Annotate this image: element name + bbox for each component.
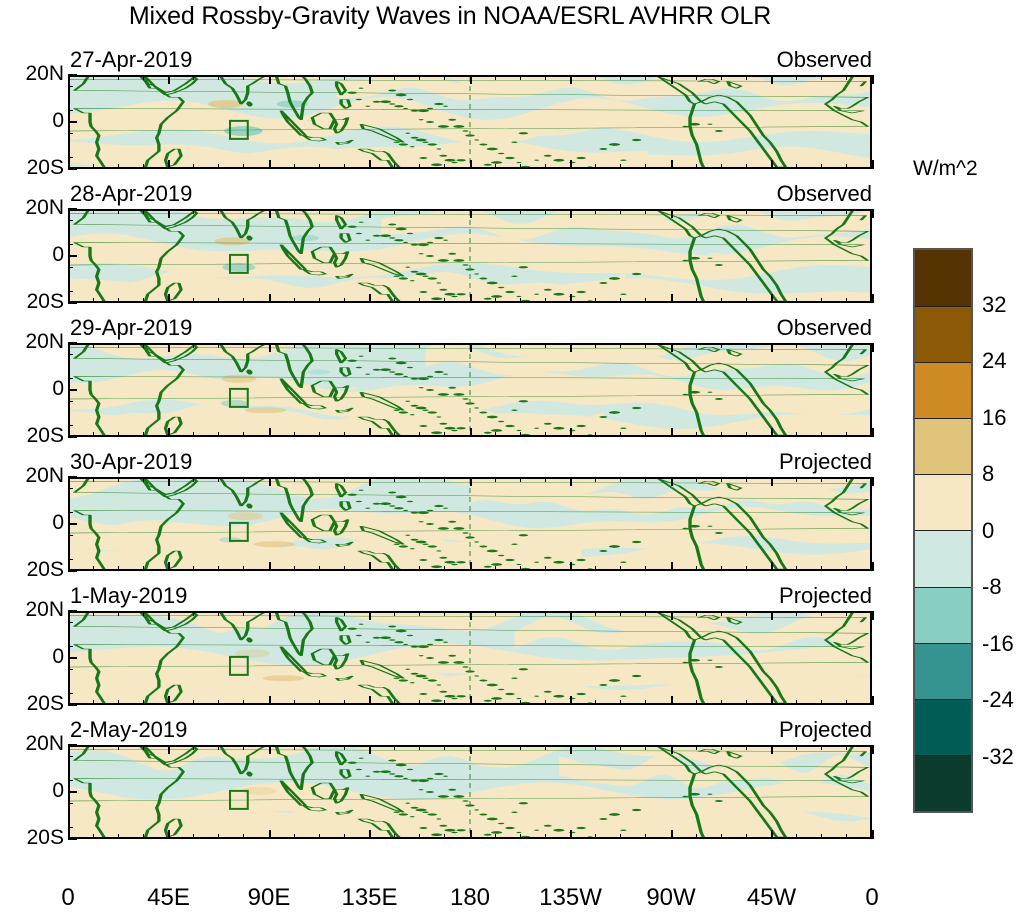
- x-axis-minor-tick: [344, 75, 345, 80]
- x-axis-tick: [671, 745, 673, 754]
- x-axis-tick: [470, 343, 472, 352]
- x-axis-tick: [168, 696, 170, 705]
- x-axis-minor-tick: [696, 745, 697, 750]
- x-axis-minor-tick: [796, 566, 797, 571]
- y-axis-minor-tick: [68, 86, 73, 87]
- colorbar-tick-label: -24: [982, 687, 1014, 713]
- x-axis-minor-tick: [620, 75, 621, 80]
- x-axis-minor-tick: [846, 164, 847, 169]
- y-axis-minor-tick: [68, 646, 73, 647]
- x-axis-minor-tick: [344, 298, 345, 303]
- x-axis-tick: [570, 830, 572, 839]
- x-axis-minor-tick: [344, 566, 345, 571]
- x-axis-minor-tick: [645, 75, 646, 80]
- x-axis-minor-tick: [746, 298, 747, 303]
- x-axis-minor-tick: [193, 343, 194, 348]
- x-axis-minor-tick: [218, 477, 219, 482]
- x-axis-minor-tick: [218, 164, 219, 169]
- x-axis-minor-tick: [595, 700, 596, 705]
- x-axis-minor-tick: [846, 611, 847, 616]
- x-axis-tick: [68, 611, 70, 620]
- x-axis-minor-tick: [93, 566, 94, 571]
- y-axis-tick-label: 20N: [0, 598, 64, 622]
- x-axis-minor-tick: [846, 700, 847, 705]
- x-axis-tick-label: 135W: [539, 884, 602, 912]
- x-axis-minor-tick: [193, 432, 194, 437]
- colorbar-band: [915, 362, 971, 418]
- x-axis-minor-tick: [696, 164, 697, 169]
- x-axis-minor-tick: [620, 700, 621, 705]
- x-axis-minor-tick: [821, 700, 822, 705]
- colorbar-tick-label: 16: [982, 405, 1006, 431]
- x-axis-tick: [470, 611, 472, 620]
- y-axis-minor-tick: [68, 267, 73, 268]
- x-axis-minor-tick: [620, 611, 621, 616]
- x-axis-tick: [68, 428, 70, 437]
- x-axis-minor-tick: [218, 566, 219, 571]
- x-axis-minor-tick: [344, 343, 345, 348]
- y-axis-tick-label: 0: [0, 243, 64, 267]
- x-axis-minor-tick: [620, 745, 621, 750]
- x-axis-minor-tick: [243, 566, 244, 571]
- x-axis-minor-tick: [143, 745, 144, 750]
- x-axis-minor-tick: [394, 209, 395, 214]
- x-axis-minor-tick: [620, 164, 621, 169]
- x-axis-minor-tick: [821, 566, 822, 571]
- x-axis-tick: [269, 562, 271, 571]
- x-axis-minor-tick: [796, 834, 797, 839]
- x-axis-minor-tick: [344, 209, 345, 214]
- colorbar-tick-label: -32: [982, 744, 1014, 770]
- y-axis-minor-tick: [68, 535, 73, 536]
- x-axis-tick: [771, 477, 773, 486]
- x-axis-minor-tick: [821, 745, 822, 750]
- x-axis-tick: [470, 428, 472, 437]
- x-axis-minor-tick: [143, 432, 144, 437]
- x-axis-tick: [369, 611, 371, 620]
- x-axis-minor-tick: [721, 75, 722, 80]
- x-axis-tick: [369, 160, 371, 169]
- y-axis-tick: [68, 121, 77, 123]
- x-axis-minor-tick: [93, 209, 94, 214]
- x-axis-tick: [872, 745, 874, 754]
- y-axis-tick-label: 20S: [0, 826, 64, 850]
- x-axis-minor-tick: [846, 298, 847, 303]
- y-axis-tick: [68, 523, 77, 525]
- x-axis-minor-tick: [520, 343, 521, 348]
- y-axis-minor-tick: [68, 803, 73, 804]
- y-axis-minor-tick: [68, 354, 73, 355]
- x-axis-minor-tick: [721, 164, 722, 169]
- x-axis-tick: [168, 745, 170, 754]
- colorbar-band: [915, 418, 971, 474]
- y-axis-minor-tick: [68, 512, 73, 513]
- x-axis-minor-tick: [595, 477, 596, 482]
- x-axis-tick: [269, 696, 271, 705]
- x-axis-minor-tick: [394, 164, 395, 169]
- y-axis-tick-label: 0: [0, 511, 64, 535]
- y-axis-tick-label: 20N: [0, 732, 64, 756]
- x-axis-minor-tick: [118, 164, 119, 169]
- x-axis-minor-tick: [344, 700, 345, 705]
- x-axis-minor-tick: [520, 700, 521, 705]
- x-axis-minor-tick: [218, 432, 219, 437]
- x-axis-minor-tick: [846, 432, 847, 437]
- x-axis-tick: [369, 562, 371, 571]
- x-axis-minor-tick: [294, 566, 295, 571]
- x-axis-tick: [470, 477, 472, 486]
- x-axis-tick: [872, 75, 874, 84]
- x-axis-tick: [671, 294, 673, 303]
- x-axis-tick-label: 45E: [147, 884, 190, 912]
- x-axis-tick: [771, 209, 773, 218]
- colorbar-band: [915, 643, 971, 699]
- x-axis-tick: [771, 428, 773, 437]
- x-axis-minor-tick: [118, 700, 119, 705]
- x-axis-minor-tick: [218, 700, 219, 705]
- x-axis-minor-tick: [846, 566, 847, 571]
- x-axis-minor-tick: [394, 566, 395, 571]
- x-axis-minor-tick: [118, 343, 119, 348]
- x-axis-minor-tick: [444, 477, 445, 482]
- x-axis-tick: [771, 294, 773, 303]
- y-axis-minor-tick: [68, 756, 73, 757]
- x-axis-minor-tick: [93, 164, 94, 169]
- x-axis-minor-tick: [495, 432, 496, 437]
- x-axis-minor-tick: [520, 298, 521, 303]
- x-axis-minor-tick: [595, 745, 596, 750]
- x-axis-minor-tick: [444, 164, 445, 169]
- colorbar-band: [915, 530, 971, 586]
- x-axis-minor-tick: [821, 477, 822, 482]
- y-axis-tick-label: 20N: [0, 330, 64, 354]
- x-axis-minor-tick: [520, 566, 521, 571]
- x-axis-minor-tick: [821, 834, 822, 839]
- x-axis-minor-tick: [746, 611, 747, 616]
- x-axis-minor-tick: [419, 477, 420, 482]
- x-axis-tick: [269, 343, 271, 352]
- x-axis-minor-tick: [595, 209, 596, 214]
- y-axis-tick: [68, 791, 77, 793]
- colorbar-band: [915, 699, 971, 755]
- x-axis-tick: [872, 428, 874, 437]
- x-axis-minor-tick: [243, 477, 244, 482]
- x-axis-minor-tick: [319, 209, 320, 214]
- x-axis-minor-tick: [595, 611, 596, 616]
- x-axis-minor-tick: [93, 611, 94, 616]
- x-axis-minor-tick: [620, 298, 621, 303]
- x-axis-minor-tick: [746, 477, 747, 482]
- x-axis-minor-tick: [419, 611, 420, 616]
- x-axis-tick: [168, 562, 170, 571]
- x-axis-tick: [470, 75, 472, 84]
- x-axis-minor-tick: [846, 343, 847, 348]
- x-axis-minor-tick: [796, 75, 797, 80]
- x-axis-minor-tick: [93, 75, 94, 80]
- x-axis-minor-tick: [520, 477, 521, 482]
- x-axis-minor-tick: [319, 298, 320, 303]
- x-axis-tick: [369, 428, 371, 437]
- panel-status-label: Observed: [68, 181, 872, 207]
- x-axis-minor-tick: [319, 477, 320, 482]
- x-axis-tick: [168, 209, 170, 218]
- x-axis-minor-tick: [143, 834, 144, 839]
- x-axis-minor-tick: [645, 834, 646, 839]
- x-axis-minor-tick: [319, 700, 320, 705]
- x-axis-tick: [771, 611, 773, 620]
- x-axis-minor-tick: [193, 834, 194, 839]
- x-axis-minor-tick: [495, 164, 496, 169]
- x-axis-tick: [68, 75, 70, 84]
- x-axis-minor-tick: [495, 75, 496, 80]
- x-axis-minor-tick: [394, 611, 395, 616]
- x-axis-minor-tick: [645, 209, 646, 214]
- x-axis-minor-tick: [294, 343, 295, 348]
- x-axis-minor-tick: [796, 298, 797, 303]
- x-axis-minor-tick: [495, 477, 496, 482]
- x-axis-minor-tick: [520, 164, 521, 169]
- x-axis-minor-tick: [545, 700, 546, 705]
- x-axis-minor-tick: [419, 834, 420, 839]
- x-axis-minor-tick: [143, 566, 144, 571]
- y-axis-minor-tick: [68, 488, 73, 489]
- x-axis-minor-tick: [821, 343, 822, 348]
- x-axis-minor-tick: [319, 611, 320, 616]
- x-axis-minor-tick: [118, 209, 119, 214]
- x-axis-minor-tick: [344, 611, 345, 616]
- x-axis-minor-tick: [319, 745, 320, 750]
- y-axis-minor-tick: [68, 220, 73, 221]
- x-axis-minor-tick: [243, 343, 244, 348]
- x-axis-minor-tick: [294, 164, 295, 169]
- x-axis-tick: [168, 477, 170, 486]
- x-axis-minor-tick: [394, 298, 395, 303]
- y-axis-tick: [68, 389, 77, 391]
- x-axis-tick: [68, 209, 70, 218]
- x-axis-minor-tick: [746, 343, 747, 348]
- x-axis-tick: [570, 745, 572, 754]
- x-axis-minor-tick: [846, 477, 847, 482]
- y-axis-minor-tick: [68, 780, 73, 781]
- x-axis-minor-tick: [545, 834, 546, 839]
- colorbar-tick-label: -8: [982, 574, 1002, 600]
- x-axis-tick: [68, 830, 70, 839]
- x-axis-minor-tick: [721, 477, 722, 482]
- panel-status-label: Observed: [68, 47, 872, 73]
- x-axis-tick: [369, 745, 371, 754]
- y-axis-minor-tick: [68, 157, 73, 158]
- x-axis-minor-tick: [143, 343, 144, 348]
- x-axis-tick: [771, 562, 773, 571]
- x-axis-minor-tick: [746, 834, 747, 839]
- x-axis-minor-tick: [394, 343, 395, 348]
- x-axis-minor-tick: [344, 477, 345, 482]
- x-axis-minor-tick: [645, 343, 646, 348]
- y-axis-tick: [68, 657, 77, 659]
- x-axis-minor-tick: [796, 700, 797, 705]
- x-axis-minor-tick: [520, 75, 521, 80]
- x-axis-minor-tick: [243, 432, 244, 437]
- x-axis-minor-tick: [444, 432, 445, 437]
- colorbar: [913, 248, 973, 813]
- x-axis-minor-tick: [821, 611, 822, 616]
- x-axis-tick: [168, 611, 170, 620]
- map-panel: [68, 611, 872, 705]
- x-axis-minor-tick: [394, 834, 395, 839]
- x-axis-minor-tick: [143, 209, 144, 214]
- x-axis-tick: [872, 611, 874, 620]
- panel-status-label: Projected: [68, 449, 872, 475]
- x-axis-minor-tick: [520, 745, 521, 750]
- x-axis-minor-tick: [93, 298, 94, 303]
- x-axis-minor-tick: [595, 432, 596, 437]
- x-axis-minor-tick: [394, 477, 395, 482]
- x-axis-minor-tick: [419, 298, 420, 303]
- x-axis-tick-label: 0: [865, 884, 878, 912]
- x-axis-minor-tick: [696, 209, 697, 214]
- x-axis-minor-tick: [721, 611, 722, 616]
- colorbar-tick-label: -16: [982, 631, 1014, 657]
- x-axis-minor-tick: [495, 745, 496, 750]
- y-axis-minor-tick: [68, 110, 73, 111]
- x-axis-tick: [872, 294, 874, 303]
- x-axis-minor-tick: [821, 209, 822, 214]
- x-axis-minor-tick: [319, 834, 320, 839]
- x-axis-tick: [369, 209, 371, 218]
- x-axis-tick: [369, 343, 371, 352]
- x-axis-minor-tick: [796, 209, 797, 214]
- x-axis-tick: [470, 745, 472, 754]
- x-axis-minor-tick: [545, 75, 546, 80]
- x-axis-minor-tick: [721, 298, 722, 303]
- x-axis-minor-tick: [645, 611, 646, 616]
- x-axis-minor-tick: [444, 343, 445, 348]
- x-axis-minor-tick: [218, 298, 219, 303]
- x-axis-tick-label: 135E: [341, 884, 397, 912]
- x-axis-minor-tick: [645, 432, 646, 437]
- x-axis-tick: [168, 830, 170, 839]
- x-axis-minor-tick: [595, 834, 596, 839]
- x-axis-minor-tick: [696, 343, 697, 348]
- x-axis-minor-tick: [746, 432, 747, 437]
- x-axis-tick: [671, 160, 673, 169]
- x-axis-minor-tick: [746, 75, 747, 80]
- y-axis-minor-tick: [68, 425, 73, 426]
- x-axis-minor-tick: [294, 432, 295, 437]
- x-axis-minor-tick: [645, 477, 646, 482]
- y-axis-tick-label: 20S: [0, 156, 64, 180]
- x-axis-minor-tick: [319, 432, 320, 437]
- x-axis-minor-tick: [545, 298, 546, 303]
- x-axis-minor-tick: [620, 566, 621, 571]
- x-axis-tick: [168, 75, 170, 84]
- x-axis-tick: [68, 696, 70, 705]
- x-axis-tick: [68, 477, 70, 486]
- colorbar-unit-label: W/m^2: [913, 157, 1021, 181]
- colorbar-band: [915, 587, 971, 643]
- x-axis-minor-tick: [193, 477, 194, 482]
- x-axis-tick: [369, 75, 371, 84]
- x-axis-minor-tick: [319, 566, 320, 571]
- x-axis-tick: [269, 75, 271, 84]
- x-axis-tick: [470, 696, 472, 705]
- x-axis-minor-tick: [93, 700, 94, 705]
- x-axis-minor-tick: [796, 745, 797, 750]
- x-axis-minor-tick: [645, 298, 646, 303]
- x-axis-minor-tick: [545, 209, 546, 214]
- y-axis-minor-tick: [68, 244, 73, 245]
- x-axis-minor-tick: [294, 700, 295, 705]
- x-axis-minor-tick: [243, 745, 244, 750]
- x-axis-tick: [771, 75, 773, 84]
- x-axis-minor-tick: [846, 209, 847, 214]
- x-axis-tick: [269, 745, 271, 754]
- x-axis-minor-tick: [444, 700, 445, 705]
- x-axis-minor-tick: [444, 298, 445, 303]
- x-axis-minor-tick: [143, 75, 144, 80]
- x-axis-minor-tick: [520, 432, 521, 437]
- x-axis-minor-tick: [394, 745, 395, 750]
- x-axis-minor-tick: [545, 432, 546, 437]
- x-axis-minor-tick: [118, 477, 119, 482]
- x-axis-minor-tick: [520, 611, 521, 616]
- y-axis-tick-label: 20S: [0, 558, 64, 582]
- x-axis-minor-tick: [821, 164, 822, 169]
- x-axis-minor-tick: [444, 745, 445, 750]
- x-axis-tick: [369, 477, 371, 486]
- x-axis-minor-tick: [319, 343, 320, 348]
- x-axis-tick: [872, 209, 874, 218]
- x-axis-tick: [269, 294, 271, 303]
- x-axis-minor-tick: [344, 745, 345, 750]
- x-axis-minor-tick: [696, 75, 697, 80]
- y-axis-tick: [68, 255, 77, 257]
- y-axis-tick-label: 20S: [0, 424, 64, 448]
- x-axis-minor-tick: [444, 75, 445, 80]
- x-axis-minor-tick: [796, 611, 797, 616]
- page-title: Mixed Rossby-Gravity Waves in NOAA/ESRL …: [0, 2, 900, 31]
- x-axis-minor-tick: [746, 700, 747, 705]
- x-axis-minor-tick: [696, 298, 697, 303]
- x-axis-tick: [872, 562, 874, 571]
- x-axis-minor-tick: [796, 343, 797, 348]
- x-axis-minor-tick: [495, 611, 496, 616]
- x-axis-minor-tick: [746, 566, 747, 571]
- x-axis-minor-tick: [696, 566, 697, 571]
- panel-status-label: Projected: [68, 717, 872, 743]
- x-axis-tick: [470, 830, 472, 839]
- x-axis-tick-label: 90W: [646, 884, 695, 912]
- x-axis-minor-tick: [243, 75, 244, 80]
- x-axis-tick: [369, 830, 371, 839]
- x-axis-tick: [68, 294, 70, 303]
- x-axis-tick: [269, 209, 271, 218]
- x-axis-tick: [68, 562, 70, 571]
- x-axis-minor-tick: [143, 611, 144, 616]
- panel-status-label: Projected: [68, 583, 872, 609]
- x-axis-minor-tick: [143, 700, 144, 705]
- x-axis-tick: [570, 477, 572, 486]
- x-axis-minor-tick: [394, 700, 395, 705]
- map-panel: [68, 343, 872, 437]
- x-axis-tick: [771, 160, 773, 169]
- x-axis-tick: [671, 75, 673, 84]
- x-axis-tick-label: 180: [450, 884, 490, 912]
- x-axis-tick: [369, 696, 371, 705]
- figure-canvas: Mixed Rossby-Gravity Waves in NOAA/ESRL …: [0, 0, 1021, 923]
- colorbar-band: [915, 755, 971, 811]
- x-axis-tick: [671, 477, 673, 486]
